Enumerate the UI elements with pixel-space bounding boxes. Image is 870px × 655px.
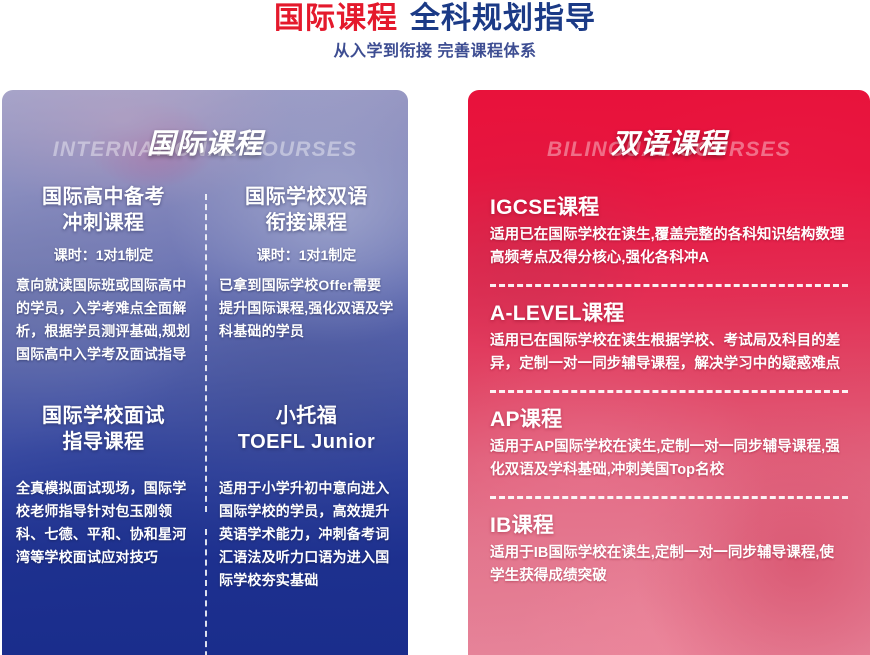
international-course-row-2: 国际学校面试 指导课程 全真模拟面试现场，国际学校老师指导针对包玉刚领科、七德、… (2, 403, 408, 592)
page-title: 国际课程全科规划指导 (0, 2, 870, 36)
bilingual-item-igcse[interactable]: IGCSE课程 适用已在国际学校在读生,覆盖完整的各科知识结构数理高频考点及得分… (490, 194, 848, 270)
bilingual-card-header: BILINGUAL COURSES 双语课程 (468, 90, 870, 162)
course-title-line-1: 国际学校双语 (219, 184, 394, 210)
page-title-secondary: 全科规划指导 (410, 2, 596, 35)
bilingual-item-title: A-LEVEL课程 (490, 300, 848, 327)
course-description: 全真模拟面试现场，国际学校老师指导针对包玉刚领科、七德、平和、协和星河湾等学校面… (16, 477, 191, 569)
bilingual-item-ib[interactable]: IB课程 适用于IB国际学校在读生,定制一对一同步辅导课程,使学生获得成绩突破 (490, 512, 848, 588)
course-description: 意向就读国际班或国际高中的学员，入学考难点全面解析，根据学员测评基础,规划国际高… (16, 274, 191, 366)
bilingual-course-list: IGCSE课程 适用已在国际学校在读生,覆盖完整的各科知识结构数理高频考点及得分… (468, 194, 870, 588)
course-cards-container: INTERNATIONAL COURSES 国际课程 国际高中备考 冲刺课程 课… (0, 90, 870, 655)
bilingual-item-description: 适用于AP国际学校在读生,定制一对一同步辅导课程,强化双语及学科基础,冲刺美国T… (490, 436, 848, 482)
bilingual-card-title: 双语课程 (468, 122, 870, 162)
page-title-primary: 国际课程 (274, 2, 398, 35)
course-title-line-2: 冲刺课程 (16, 210, 191, 236)
bilingual-item-title: IGCSE课程 (490, 194, 848, 221)
course-title-line-1: 国际学校面试 (16, 403, 191, 429)
course-title-line-2: 指导课程 (16, 429, 191, 455)
course-hours: 课时：1对1制定 (16, 245, 191, 265)
page-header: 国际课程全科规划指导 从入学到衔接 完善课程体系 (0, 0, 870, 63)
course-description: 适用于小学升初中意向进入国际学校的学员，高效提升英语学术能力，冲刺备考词汇语法及… (219, 477, 394, 592)
course-cell-toefl-junior[interactable]: 小托福 TOEFL Junior 适用于小学升初中意向进入国际学校的学员，高效提… (205, 403, 408, 592)
list-divider-1 (490, 284, 848, 287)
course-title-line-2: 衔接课程 (219, 210, 394, 236)
bilingual-item-description: 适用于IB国际学校在读生,定制一对一同步辅导课程,使学生获得成绩突破 (490, 542, 848, 588)
course-title: 国际学校面试 指导课程 (16, 403, 191, 455)
page-subtitle: 从入学到衔接 完善课程体系 (0, 41, 870, 63)
course-cell-shuangyu-xianjie[interactable]: 国际学校双语 衔接课程 课时：1对1制定 已拿到国际学校Offer需要提升国际课… (205, 184, 408, 366)
bilingual-item-title: AP课程 (490, 406, 848, 433)
course-title-line-1: 小托福 (219, 403, 394, 429)
bilingual-item-title: IB课程 (490, 512, 848, 539)
course-title: 国际高中备考 冲刺课程 (16, 184, 191, 236)
course-title-line-2: TOEFL Junior (219, 429, 394, 455)
course-title-line-1: 国际高中备考 (16, 184, 191, 210)
bilingual-courses-card[interactable]: BILINGUAL COURSES 双语课程 IGCSE课程 适用已在国际学校在… (468, 90, 870, 655)
international-courses-card[interactable]: INTERNATIONAL COURSES 国际课程 国际高中备考 冲刺课程 课… (2, 90, 408, 655)
course-title: 小托福 TOEFL Junior (219, 403, 394, 455)
international-course-row-1: 国际高中备考 冲刺课程 课时：1对1制定 意向就读国际班或国际高中的学员，入学考… (2, 184, 408, 366)
course-title: 国际学校双语 衔接课程 (219, 184, 394, 236)
course-hours: 课时：1对1制定 (219, 245, 394, 265)
bilingual-item-alevel[interactable]: A-LEVEL课程 适用已在国际学校在读生根据学校、考试局及科目的差异，定制一对… (490, 300, 848, 376)
international-course-grid: 国际高中备考 冲刺课程 课时：1对1制定 意向就读国际班或国际高中的学员，入学考… (2, 184, 408, 592)
course-cell-gaozhong-beikao[interactable]: 国际高中备考 冲刺课程 课时：1对1制定 意向就读国际班或国际高中的学员，入学考… (2, 184, 205, 366)
international-card-title: 国际课程 (2, 122, 408, 162)
international-card-header: INTERNATIONAL COURSES 国际课程 (2, 90, 408, 162)
course-description: 已拿到国际学校Offer需要提升国际课程,强化双语及学科基础的学员 (219, 274, 394, 343)
bilingual-item-description: 适用已在国际学校在读生根据学校、考试局及科目的差异，定制一对一同步辅导课程，解决… (490, 330, 848, 376)
list-divider-2 (490, 390, 848, 393)
bilingual-item-ap[interactable]: AP课程 适用于AP国际学校在读生,定制一对一同步辅导课程,强化双语及学科基础,… (490, 406, 848, 482)
bilingual-item-description: 适用已在国际学校在读生,覆盖完整的各科知识结构数理高频考点及得分核心,强化各科冲… (490, 224, 848, 270)
list-divider-3 (490, 496, 848, 499)
course-cell-mianshi-zhidao[interactable]: 国际学校面试 指导课程 全真模拟面试现场，国际学校老师指导针对包玉刚领科、七德、… (2, 403, 205, 592)
